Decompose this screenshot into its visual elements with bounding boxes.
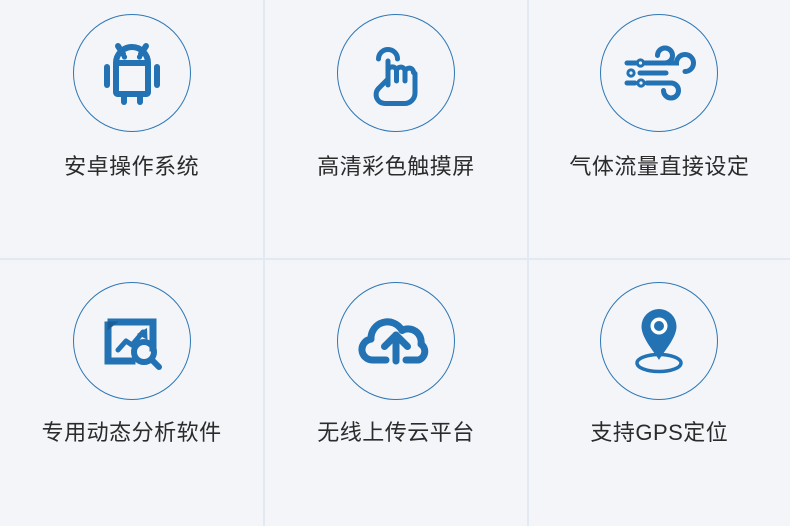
icon-circle-gas-flow-setting — [600, 14, 718, 132]
feature-cell-gps-positioning[interactable]: 支持GPS定位 — [527, 258, 790, 526]
chart-magnifier-icon — [97, 306, 167, 376]
cloud-upload-icon — [358, 311, 434, 371]
icon-circle-dynamic-analysis-software — [73, 282, 191, 400]
feature-label-gps-positioning: 支持GPS定位 — [590, 420, 728, 446]
feature-cell-hd-color-touchscreen[interactable]: 高清彩色触摸屏 — [263, 0, 526, 258]
icon-circle-wireless-cloud-upload — [337, 282, 455, 400]
feature-cell-android-os[interactable]: 安卓操作系统 — [0, 0, 263, 258]
touch-hand-icon — [360, 37, 432, 109]
feature-cell-dynamic-analysis-software[interactable]: 专用动态分析软件 — [0, 258, 263, 526]
icon-circle-android-os — [73, 14, 191, 132]
feature-label-dynamic-analysis-software: 专用动态分析软件 — [42, 420, 222, 446]
feature-cell-gas-flow-setting[interactable]: 气体流量直接设定 — [527, 0, 790, 258]
feature-cell-wireless-cloud-upload[interactable]: 无线上传云平台 — [263, 258, 526, 526]
feature-label-gas-flow-setting: 气体流量直接设定 — [569, 154, 749, 180]
map-pin-icon — [626, 305, 692, 377]
icon-circle-hd-color-touchscreen — [337, 14, 455, 132]
wind-flow-icon — [621, 42, 697, 104]
feature-label-android-os: 安卓操作系统 — [64, 154, 199, 180]
feature-label-hd-color-touchscreen: 高清彩色触摸屏 — [317, 154, 475, 180]
feature-grid: 安卓操作系统 — [0, 0, 790, 526]
android-robot-icon — [96, 37, 168, 109]
icon-circle-gps-positioning — [600, 282, 718, 400]
feature-label-wireless-cloud-upload: 无线上传云平台 — [317, 420, 475, 446]
